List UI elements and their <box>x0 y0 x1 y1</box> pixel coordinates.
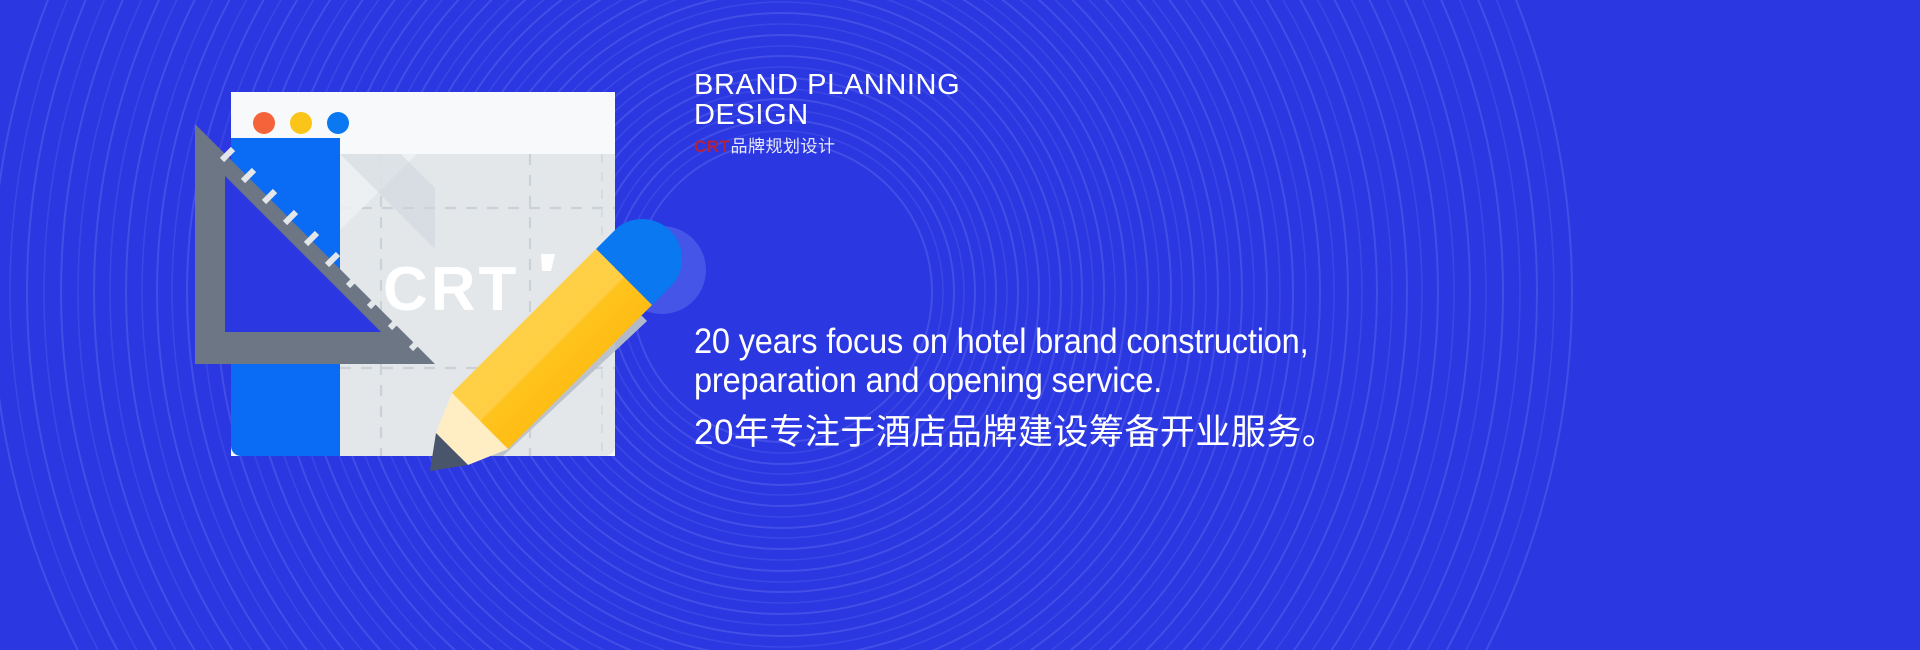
brand-banner: CRT <box>0 0 1920 650</box>
tagline-chinese: 20年专注于酒店品牌建设筹备开业服务。 <box>694 411 1794 455</box>
brand-subtitle-cn: 品牌规划设计 <box>730 137 835 156</box>
heading-block: BRAND PLANNING DESIGN CRT品牌规划设计 <box>694 70 960 157</box>
brand-subtitle: CRT品牌规划设计 <box>694 137 960 157</box>
banner-copy-column: BRAND PLANNING DESIGN CRT品牌规划设计 20 years… <box>694 0 1874 650</box>
close-dot <box>253 112 275 134</box>
svg-text:CRT: CRT <box>383 255 519 324</box>
minimize-dot <box>290 112 312 134</box>
tagline-block: 20 years focus on hotel brand constructi… <box>694 322 1794 455</box>
maximize-dot <box>327 112 349 134</box>
window-control-dots <box>253 112 349 134</box>
tagline-english: 20 years focus on hotel brand constructi… <box>694 322 1717 400</box>
brand-subtitle-crt: CRT <box>694 137 730 156</box>
page-title: BRAND PLANNING DESIGN <box>694 70 960 130</box>
